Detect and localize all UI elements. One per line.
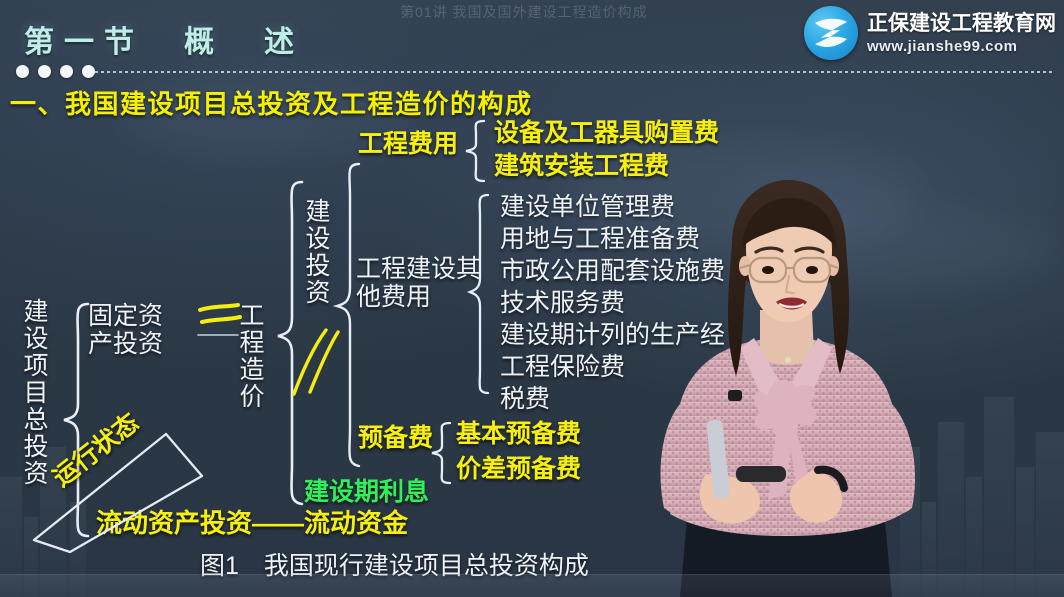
- brand-name: 正保建设工程教育网: [867, 13, 1056, 34]
- handwritten-running-state-label: 运行状态: [48, 408, 144, 492]
- brace-engineering-cost: [462, 118, 488, 184]
- brace-project-cost: [272, 178, 306, 508]
- lecture-video-frame: 第01讲 我国及国外建设工程造价构成 正保建设工程教育网 www.jianshe…: [0, 0, 1064, 597]
- brand-logo[interactable]: 正保建设工程教育网 www.jianshe99.com: [804, 6, 1056, 60]
- leaf-equipment-purchase-cost: 设备及工器具购置费: [494, 119, 719, 147]
- leaf-owner-management-fee: 建设单位管理费: [500, 193, 675, 221]
- leaf-tax-fee: 税费: [500, 385, 550, 413]
- handwritten-slash-marks: [288, 324, 348, 400]
- header-divider: [95, 71, 1055, 73]
- z-swoosh-logo-icon: [804, 6, 858, 60]
- node-construction-investment: 建设投资: [302, 198, 330, 306]
- brace-root: [58, 300, 92, 540]
- slide-heading: 一、我国建设项目总投资及工程造价的构成: [10, 84, 533, 121]
- leaf-production-preparation-fee: 建设期计列的生产经: [500, 321, 725, 349]
- group-label-contingency: 预备费: [358, 424, 433, 452]
- player-bottom-bar[interactable]: [0, 574, 1064, 597]
- leaf-construction-installation-cost: 建筑安装工程费: [494, 152, 669, 180]
- leaf-municipal-facilities-fee: 市政公用配套设施费: [500, 257, 725, 285]
- leaf-engineering-insurance-fee: 工程保险费: [500, 353, 625, 381]
- group-label-engineering-cost: 工程费用: [358, 130, 458, 158]
- underline-mark: [196, 332, 240, 338]
- leaf-land-and-preparation-fee: 用地与工程准备费: [500, 225, 700, 253]
- node-fixed-asset-investment: 固定资产投资: [88, 302, 163, 358]
- node-current-asset-investment: 流动资产投资——流动资金: [96, 509, 408, 538]
- node-project-cost: 工程造价: [236, 302, 264, 410]
- node-total-investment: 建设项目总投资: [20, 298, 48, 487]
- brand-url: www.jianshe99.com: [867, 39, 1056, 54]
- bullet-dots-decoration: [16, 65, 95, 78]
- slide-section-title: 第一节 概 述: [24, 17, 304, 61]
- leaf-basic-contingency: 基本预备费: [456, 420, 581, 448]
- leaf-price-contingency: 价差预备费: [456, 455, 581, 483]
- group-label-other-construction-cost: 工程建设其他费用: [356, 255, 481, 311]
- node-construction-period-interest: 建设期利息: [304, 478, 429, 506]
- leaf-technical-service-fee: 技术服务费: [500, 289, 625, 317]
- lesson-watermark: 第01讲 我国及国外建设工程造价构成: [400, 2, 820, 22]
